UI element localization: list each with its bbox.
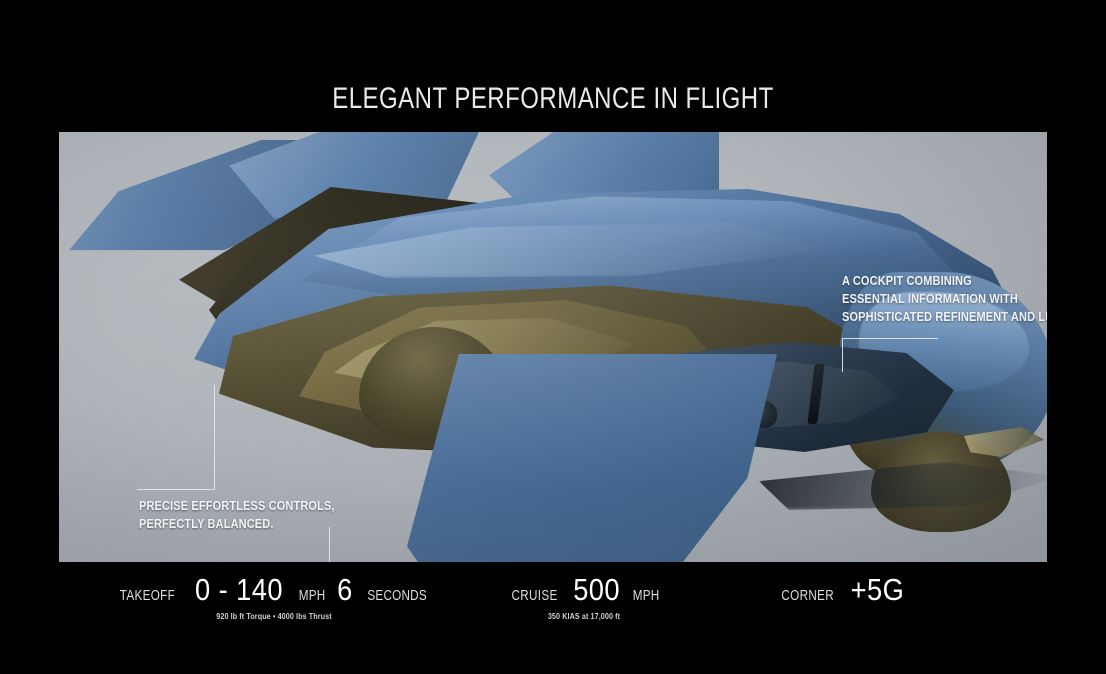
leader-line-controls-vertical	[214, 385, 215, 490]
leader-line-cockpit-vertical	[842, 338, 843, 372]
stat-takeoff: TAKEOFF 0 - 140 MPH 6 SECONDS 920 lb ft …	[119, 572, 429, 621]
annotation-controls: PRECISE EFFORTLESS CONTROLS, PERFECTLY B…	[139, 497, 335, 533]
stat-cruise-label: CRUISE	[511, 587, 557, 604]
stat-cruise-line: CRUISE 500 MPH	[459, 572, 709, 608]
stat-cruise-subtext: 350 KIAS at 17,000 ft	[472, 612, 697, 621]
annotation-cockpit-line-1: A COCKPIT COMBINING	[842, 272, 1047, 290]
specs-row: TAKEOFF 0 - 140 MPH 6 SECONDS 920 lb ft …	[59, 566, 1047, 638]
main-wing-shape	[407, 354, 777, 562]
stat-takeoff-value: 0 - 140	[195, 572, 283, 608]
stat-takeoff-line: TAKEOFF 0 - 140 MPH 6 SECONDS	[119, 572, 429, 608]
stat-corner-label: CORNER	[781, 587, 834, 604]
stat-takeoff-unit2: SECONDS	[368, 587, 427, 604]
leader-line-controls-horizontal	[137, 489, 215, 490]
stat-takeoff-value2: 6	[337, 572, 353, 608]
stat-cruise-unit: MPH	[633, 587, 660, 604]
stat-cruise: CRUISE 500 MPH 350 KIAS at 17,000 ft	[459, 572, 709, 621]
stat-takeoff-label: TAKEOFF	[120, 587, 175, 604]
annotation-cockpit: A COCKPIT COMBINING ESSENTIAL INFORMATIO…	[842, 272, 1047, 326]
annotation-controls-line-1: PRECISE EFFORTLESS CONTROLS,	[139, 497, 335, 515]
annotation-controls-line-2: PERFECTLY BALANCED.	[139, 515, 335, 533]
annotation-cockpit-line-3: SOPHISTICATED REFINEMENT AND LUXURY.	[842, 308, 1047, 326]
leader-line-cockpit-horizontal	[842, 338, 938, 339]
stat-takeoff-subtext: 920 lb ft Torque • 4000 lbs Thrust	[135, 612, 414, 621]
stat-corner-value: +5G	[851, 572, 905, 608]
stat-takeoff-unit: MPH	[299, 587, 326, 604]
stat-corner-line: CORNER +5G	[719, 572, 969, 608]
page-title: ELEGANT PERFORMANCE IN FLIGHT	[111, 82, 996, 116]
stat-cruise-value: 500	[573, 572, 620, 608]
presentation-slide: ELEGANT PERFORMANCE IN FLIGHT	[0, 0, 1106, 674]
stat-corner: CORNER +5G	[719, 572, 969, 612]
annotation-cockpit-line-2: ESSENTIAL INFORMATION WITH	[842, 290, 1047, 308]
vehicle-render-panel: A COCKPIT COMBINING ESSENTIAL INFORMATIO…	[59, 132, 1047, 562]
